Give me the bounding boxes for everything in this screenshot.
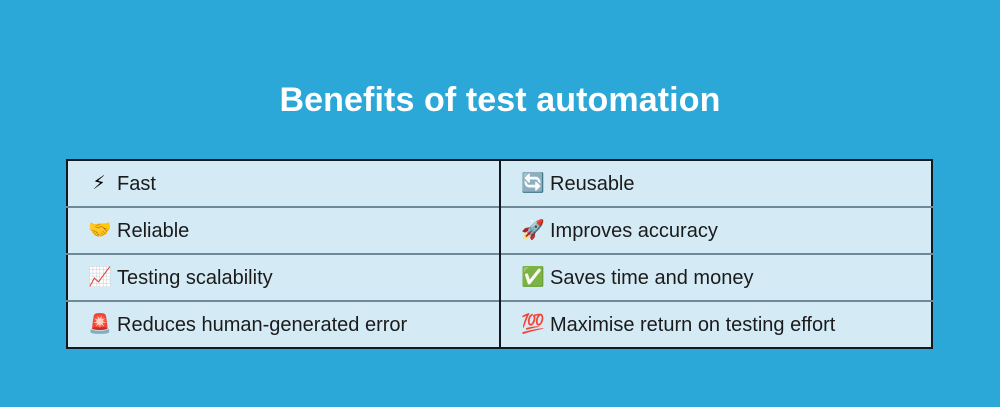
table-cell-benefit: ✅ Saves time and money bbox=[500, 254, 932, 301]
table-cell-benefit: 🚀 Improves accuracy bbox=[500, 207, 932, 254]
table-cell-benefit: 🔄 Reusable bbox=[500, 160, 932, 207]
slide-canvas: Benefits of test automation ⚡ Fast 🔄 Reu… bbox=[0, 0, 1000, 407]
benefit-label: Reduces human-generated error bbox=[117, 313, 407, 337]
table-row: 📈 Testing scalability ✅ Saves time and m… bbox=[67, 254, 932, 301]
clockwise-arrows-icon: 🔄 bbox=[521, 174, 543, 193]
benefit-item: 📈 Testing scalability bbox=[88, 266, 499, 290]
table-cell-benefit: 💯 Maximise return on testing effort bbox=[500, 301, 932, 348]
benefit-item: 🤝 Reliable bbox=[88, 219, 499, 243]
benefit-item: ✅ Saves time and money bbox=[521, 266, 931, 290]
benefits-table: ⚡ Fast 🔄 Reusable 🤝 Reliable bbox=[66, 159, 933, 349]
table-cell-benefit: 🚨 Reduces human-generated error bbox=[67, 301, 500, 348]
benefit-label: Fast bbox=[117, 172, 156, 196]
police-car-light-icon: 🚨 bbox=[88, 315, 110, 334]
benefit-label: Saves time and money bbox=[550, 266, 753, 290]
table-cell-benefit: 📈 Testing scalability bbox=[67, 254, 500, 301]
benefits-table-body: ⚡ Fast 🔄 Reusable 🤝 Reliable bbox=[67, 160, 932, 348]
benefit-item: 💯 Maximise return on testing effort bbox=[521, 313, 931, 337]
table-cell-benefit: ⚡ Fast bbox=[67, 160, 500, 207]
chart-increasing-icon: 📈 bbox=[88, 268, 110, 287]
table-row: ⚡ Fast 🔄 Reusable bbox=[67, 160, 932, 207]
benefit-label: Testing scalability bbox=[117, 266, 273, 290]
hundred-points-icon: 💯 bbox=[521, 315, 543, 334]
check-mark-button-icon: ✅ bbox=[521, 268, 543, 287]
table-row: 🤝 Reliable 🚀 Improves accuracy bbox=[67, 207, 932, 254]
benefit-item: 🚀 Improves accuracy bbox=[521, 219, 931, 243]
benefit-label: Reliable bbox=[117, 219, 189, 243]
benefit-label: Improves accuracy bbox=[550, 219, 718, 243]
benefit-item: ⚡ Fast bbox=[88, 172, 499, 196]
benefit-item: 🔄 Reusable bbox=[521, 172, 931, 196]
page-title: Benefits of test automation bbox=[0, 79, 1000, 121]
rocket-icon: 🚀 bbox=[521, 221, 543, 240]
high-voltage-icon: ⚡ bbox=[88, 174, 110, 193]
benefit-item: 🚨 Reduces human-generated error bbox=[88, 313, 499, 337]
benefit-label: Reusable bbox=[550, 172, 635, 196]
table-cell-benefit: 🤝 Reliable bbox=[67, 207, 500, 254]
handshake-icon: 🤝 bbox=[88, 221, 110, 240]
table-row: 🚨 Reduces human-generated error 💯 Maximi… bbox=[67, 301, 932, 348]
benefit-label: Maximise return on testing effort bbox=[550, 313, 835, 337]
